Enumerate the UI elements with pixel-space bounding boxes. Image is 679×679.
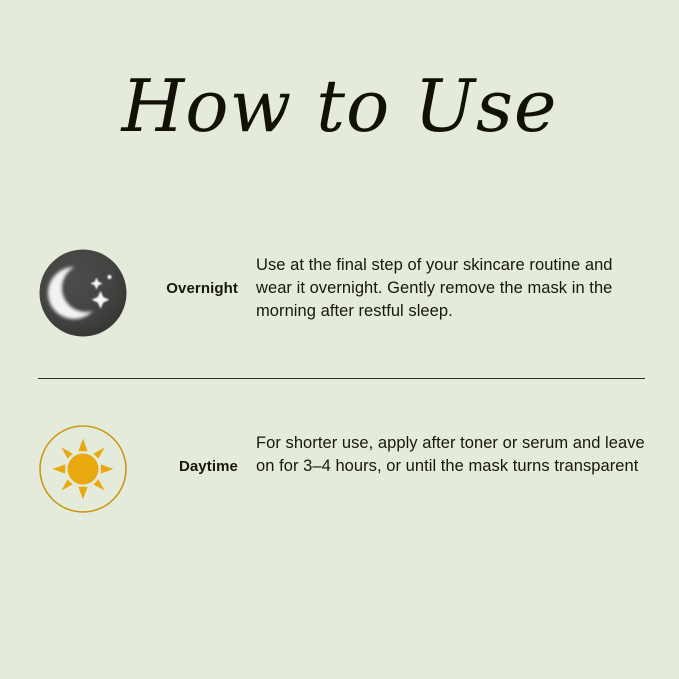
crescent-moon-icon	[38, 248, 128, 338]
sun-icon	[38, 424, 128, 514]
overnight-icon-cell	[38, 248, 128, 338]
section-divider	[38, 378, 645, 379]
page-title: How to Use	[0, 70, 679, 142]
overnight-body-text: Use at the final step of your skincare r…	[256, 248, 646, 322]
how-to-use-panel: How to Use	[0, 0, 679, 679]
daytime-body-text: For shorter use, apply after toner or se…	[256, 424, 646, 478]
instruction-row-overnight: Overnight Use at the final step of your …	[38, 248, 646, 338]
overnight-label: Overnight	[128, 248, 256, 297]
instruction-row-daytime: Daytime For shorter use, apply after ton…	[38, 424, 646, 514]
daytime-label: Daytime	[128, 424, 256, 475]
daytime-icon-cell	[38, 424, 128, 514]
